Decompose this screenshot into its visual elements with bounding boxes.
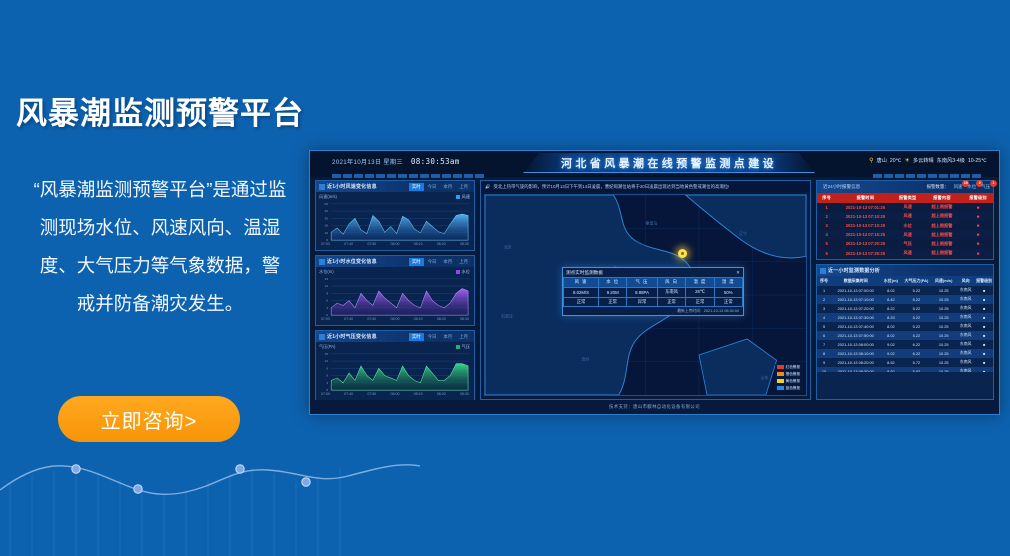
cell-level: ■ [963,249,993,258]
cell-index: 4 [817,313,831,322]
cell-wind-dir: 东南风 [956,331,975,340]
cell-wind-dir: 东南风 [956,340,975,349]
cell-wind-speed: 10.25 [931,331,956,340]
flag-icon [319,334,325,340]
table-row[interactable]: 8 2021-10-13 08:10:00 9.02 6.22 10.25 东南… [817,349,993,358]
background-wave-decoration [0,426,420,556]
svg-text:12: 12 [325,284,329,288]
cell-type: 风速 [894,230,920,239]
table-row[interactable]: 2 2021-10-13 07:10:00 8.42 5.22 10.25 东南… [817,295,993,304]
cell-water-level: 8.42 [880,295,901,304]
map-panel: 🔊 受北上热带气旋的影响，预计10月13日下午到14日凌晨，曹妃甸潮位站将于20… [480,180,811,400]
right-tables-column: 近24小时报警信息 报警数量： 风速 10 水位 2 气压 [816,180,994,400]
cell-level: ■ [975,331,993,340]
station-data-popup: 测点实时监测数据 ✕ 风 速 水 位 气 压 风 向 温 度 湿 度 [562,267,744,316]
cell-level: ■ [963,221,993,230]
map-legend: 红色警报 橙色警报 黄色警报 蓝色警报 [775,364,802,391]
weather-widget: ⚲ 唐山 20℃ ☀ 多云转晴 东南风3-4级 10-25℃ [869,157,987,164]
count-label: 风速 [954,184,963,189]
cell-level: ■ [963,203,993,212]
x-tick: 07:40 [344,242,353,246]
cell-water-level: 8.52 [880,358,901,367]
panel-title: 近1小时气压变化信息 [327,333,377,340]
cell-level: ■ [975,295,993,304]
svg-text:6: 6 [326,299,328,303]
cell-type: 风速 [894,203,920,212]
cell-index: 3 [817,304,831,313]
svg-text:沧州: 沧州 [581,355,589,361]
table-row[interactable]: 6 2021-10-13 07:25:25 风速 超上限报警 ■ [817,249,993,258]
cell-level: ■ [975,358,993,367]
cell-water-level: 8.23 [880,313,901,322]
cell-index: 7 [817,340,831,349]
cell-value: 8.88PA [627,287,657,297]
panel-tabs: 实时 今日 本月 上月 [409,333,471,341]
legend-label: 蓝色警报 [786,386,800,391]
legend-swatch-blue [777,386,784,390]
x-tick: 08:20 [437,242,446,246]
cell-wind-speed: 10.25 [931,349,956,358]
cell-wind-speed: 10.25 [931,367,956,372]
cell-content: 超上限报警 [921,239,963,248]
center-map-column: 🔊 受北上热带气旋的影响，预计10月13日下午到14日凌晨，曹妃甸潮位站将于20… [480,180,811,400]
monitor-station-beacon[interactable] [678,249,687,258]
panel-water-level: 近1小时水位变化信息 实时 今日 本月 上月 水位(m) 水位 [315,255,475,326]
svg-text:北京: 北京 [504,243,512,249]
column-header: 序号 [817,193,836,203]
chart-air-pressure: 气压(PA) 气压 1512 96 [316,342,474,400]
cell-pressure: 5.22 [901,331,931,340]
cell-level: ■ [963,230,993,239]
column-header: 气 压 [627,278,657,288]
svg-text:石家庄: 石家庄 [501,313,513,319]
status-cell: 正常 [657,297,686,307]
table-row[interactable]: 1 2021-10-13 07:01:25 风速 超上限报警 ■ [817,203,993,212]
cell-wind-dir: 东南风 [956,313,975,322]
bar-chart-icon [820,268,826,274]
x-tick: 08:10 [414,242,423,246]
cell-pressure: 5.92 [901,367,931,372]
cell-collect-time: 2021-10-13 07:00:00 [831,286,880,295]
panel-header: 近1小时气压变化信息 实时 今日 本月 上月 [316,331,474,342]
location-pin-icon: ⚲ [869,157,873,164]
panel-header: 近一小时监测数据分析 [817,265,993,276]
legend-label: 橙色警报 [786,372,800,377]
legend-item: 黄色警报 [775,378,802,384]
header-clock: 08:30:53am [411,157,460,166]
table-row[interactable]: 9 2021-10-13 08:20:00 8.52 5.72 10.25 东南… [817,358,993,367]
chart-legend: 水位 [456,269,470,275]
cell-wind-speed: 10.25 [931,286,956,295]
legend-label: 风速 [462,194,470,200]
column-header: 报警级别 [963,193,993,203]
cell-wind-speed: 10.25 [931,340,956,349]
dashboard-title: 河北省风暴潮在线预警监测点建设 [561,155,777,171]
cell-wind-speed: 10.25 [931,295,956,304]
count-label: 水位 [967,184,976,189]
svg-text:15: 15 [325,352,329,356]
tab-this-month[interactable]: 本月 [440,183,455,191]
column-header: 报警内容 [921,193,963,203]
cell-content: 超上限报警 [921,203,963,212]
page-title: 风暴潮监测预警平台 [0,88,320,133]
legend-color-swatch [456,195,460,199]
dashboard-preview: 2021年10月13日 星期三 08:30:53am 河北省风暴潮在线预警监测点… [309,150,1000,415]
table-row[interactable]: 1 2021-10-13 07:00:00 8.02 5.22 10.25 东南… [817,286,993,295]
popup-timestamp: 最新上传时间：2021-10-13 08:30:00 [563,307,743,315]
status-cell: 正常 [686,297,714,307]
svg-text:20: 20 [325,224,329,228]
cell-pressure: 5.72 [901,358,931,367]
weather-city: 唐山 [877,157,887,164]
status-cell-abnormal: 异常 [627,297,657,307]
cell-water-level: 8.02 [880,286,901,295]
legend-label: 水位 [462,269,470,275]
panel-monitor-data: 近一小时监测数据分析 序号 数据采集时间 水位(m) 大气压力(PA) 风速(m… [816,264,994,400]
cell-index: 10 [817,367,831,372]
cell-index: 1 [817,203,836,212]
monitor-data-table: 序号 数据采集时间 水位(m) 大气压力(PA) 风速(m/s) 风向 报警级别… [817,276,993,372]
tab-this-month[interactable]: 本月 [440,333,455,341]
cell-level: ■ [975,304,993,313]
announcement-text: 受北上热带气旋的影响，预计10月13日下午到14日凌晨，曹妃甸潮位站将于20日凌… [493,184,729,190]
table-header-row: 风 速 水 位 气 压 风 向 温 度 湿 度 [564,278,743,288]
column-header: 水 位 [599,278,627,288]
svg-text:10: 10 [325,231,329,235]
map-canvas[interactable]: 北京石家庄 秦皇岛唐山 沧州辽宁 山东 测点实时监测数据 ✕ [484,194,807,396]
cell-wind-speed: 10.25 [931,358,956,367]
cell-time: 2021-10-13 07:01:25 [836,203,894,212]
chart-plot-area: 1512 96 30 [319,350,471,392]
x-tick: 08:20 [437,392,446,396]
cell-wind-speed: 10.25 [931,313,956,322]
cell-type: 风速 [894,249,920,258]
cell-collect-time: 2021-10-13 08:10:00 [831,349,880,358]
hero-section: 风暴潮监测预警平台 “风暴潮监测预警平台”是通过监测现场水位、风速风向、温湿度、… [0,88,320,323]
cell-index: 3 [817,221,836,230]
x-tick: 08:00 [390,317,399,321]
cell-pressure: 6.22 [901,340,931,349]
hero-description: “风暴潮监测预警平台”是通过监测现场水位、风速风向、温湿度、大气压力等气象数据，… [0,171,320,323]
cell-value: 东南风 [657,287,686,297]
panel-header: 近1小时水位变化信息 实时 今日 本月 上月 [316,256,474,267]
chart-x-tick-labels: 07:00 07:40 07:50 08:00 08:10 08:20 08:3… [319,317,471,321]
cell-index: 9 [817,358,831,367]
cell-content: 超上限报警 [921,230,963,239]
alarm-count-pressure: 气压 1 [981,184,990,190]
chart-water-level: 水位(m) 水位 1512 96 [316,267,474,325]
alarm-counts-label: 报警数量： [927,184,949,190]
table-row[interactable]: 6 2021-10-13 07:50:00 8.02 5.22 10.25 东南… [817,331,993,340]
cell-water-level: 8.02 [880,331,901,340]
flag-icon [319,184,325,190]
tab-last-month[interactable]: 上月 [456,258,471,266]
cell-level: ■ [975,322,993,331]
tab-this-month[interactable]: 本月 [440,258,455,266]
alarm-table: 序号 报警时间 报警类型 报警内容 报警级别 1 2021-10-13 07:0… [817,193,993,258]
column-header: 水位(m) [880,276,901,286]
x-tick: 08:30 [460,242,469,246]
table-row[interactable]: 7 2021-10-13 08:00:00 9.02 6.22 10.25 东南… [817,340,993,349]
cell-level: ■ [963,239,993,248]
header-datetime: 2021年10月13日 星期三 08:30:53am [332,157,460,166]
cell-index: 8 [817,349,831,358]
x-tick: 07:50 [367,317,376,321]
flag-icon [319,259,325,265]
cell-time: 2021-10-13 07:25:25 [836,249,894,258]
table-row[interactable]: 4 2021-10-13 07:30:00 8.23 5.22 10.25 东南… [817,313,993,322]
chart-legend: 风速 [456,194,470,200]
cell-water-level: 8.92 [880,367,901,372]
column-header: 风向 [956,276,975,286]
cell-collect-time: 2021-10-13 07:30:00 [831,313,880,322]
count-badge: 1 [990,180,997,187]
cell-time: 2021-10-13 07:10:25 [836,212,894,221]
cell-wind-speed: 10.25 [931,304,956,313]
column-header: 风 向 [657,278,686,288]
cell-wind-speed: 10.25 [931,322,956,331]
cell-collect-time: 2021-10-13 07:10:00 [831,295,880,304]
table-row[interactable]: 3 2021-10-13 07:20:00 8.22 5.22 10.25 东南… [817,304,993,313]
table-row[interactable]: 3 2021-10-13 07:10:25 水位 超上限报警 ■ [817,221,993,230]
svg-text:秦皇岛: 秦皇岛 [646,219,658,225]
consult-now-button[interactable]: 立即咨询> [58,396,240,442]
cell-time: 2021-10-13 07:20:25 [836,239,894,248]
table-row: 8.02M/S 9.20M 8.88PA 东南风 25℃ 50% [564,287,743,297]
cell-wind-dir: 东南风 [956,295,975,304]
weather-condition: 多云转晴 [913,157,934,164]
count-label: 气压 [981,184,990,189]
legend-color-swatch [456,345,460,349]
cell-value: 9.20M [599,287,627,297]
alarm-count-wind: 风速 10 [954,184,963,190]
chart-plot-area: 5040 3020 100 [319,200,471,242]
cell-index: 6 [817,249,836,258]
cell-value: 8.02M/S [564,287,599,297]
column-header: 报警类型 [894,193,920,203]
x-tick: 08:10 [414,317,423,321]
cell-index: 1 [817,286,831,295]
cell-pressure: 5.22 [901,313,931,322]
panel-tabs: 实时 今日 本月 上月 [409,258,471,266]
alarm-count-water: 水位 2 [967,184,976,190]
popup-title: 测点实时监测数据 [566,270,603,276]
chart-legend: 气压 [456,344,470,350]
cell-pressure: 6.22 [901,349,931,358]
tab-today[interactable]: 今日 [425,333,440,341]
table-row[interactable]: 5 2021-10-13 07:20:25 气压 超上限报警 ■ [817,239,993,248]
svg-text:30: 30 [325,216,329,220]
x-tick: 08:20 [437,317,446,321]
cell-collect-time: 2021-10-13 08:30:00 [831,367,880,372]
legend-label: 气压 [462,344,470,350]
svg-text:山东: 山东 [761,374,769,380]
station-data-table: 风 速 水 位 气 压 风 向 温 度 湿 度 8.02M/S 9.20M 8.… [563,277,743,307]
cell-level: ■ [963,212,993,221]
cell-index: 5 [817,239,836,248]
cell-value: 50% [714,287,742,297]
legend-swatch-red [777,365,784,369]
svg-text:辽宁: 辽宁 [739,230,747,236]
svg-text:3: 3 [326,381,328,385]
panel-title: 近1小时水位变化信息 [327,258,377,265]
cell-wind-dir: 东南风 [956,322,975,331]
svg-text:9: 9 [326,366,328,370]
weather-range: 10-25℃ [968,158,987,164]
x-tick: 07:00 [321,317,330,321]
tab-today[interactable]: 今日 [425,183,440,191]
x-tick: 08:10 [414,392,423,396]
x-tick: 08:30 [460,392,469,396]
tab-today[interactable]: 今日 [425,258,440,266]
x-tick: 07:50 [367,242,376,246]
sun-cloud-icon: ☀ [905,157,910,164]
column-header: 报警时间 [836,193,894,203]
chart-x-tick-labels: 07:00 07:40 07:50 08:00 08:10 08:20 08:3… [319,392,471,396]
column-header: 风速(m/s) [931,276,956,286]
legend-label: 黄色警报 [786,379,800,384]
alarm-counts: 报警数量： 风速 10 水位 2 气压 1 [927,184,990,190]
panel-title: 近1小时风速变化信息 [327,183,377,190]
legend-swatch-yellow [777,379,784,383]
cell-index: 6 [817,331,831,340]
column-header: 序号 [817,276,831,286]
legend-item: 蓝色警报 [775,385,802,391]
cell-pressure: 5.22 [901,286,931,295]
cell-index: 2 [817,212,836,221]
tab-realtime[interactable]: 实时 [409,183,424,191]
status-cell: 正常 [714,297,742,307]
column-header: 风 速 [564,278,599,288]
panel-air-pressure: 近1小时气压变化信息 实时 今日 本月 上月 气压(PA) 气压 [315,330,475,401]
table-row: 正常 正常 异常 正常 正常 正常 [564,297,743,307]
svg-text:15: 15 [325,277,329,281]
popup-header: 测点实时监测数据 ✕ [563,268,743,277]
x-tick: 07:40 [344,317,353,321]
speaker-icon: 🔊 [485,184,490,190]
panel-header: 近1小时风速变化信息 实时 今日 本月 上月 [316,181,474,192]
panel-alarm-info: 近24小时报警信息 报警数量： 风速 10 水位 2 气压 [816,180,994,260]
svg-text:3: 3 [326,306,328,310]
cell-level: ■ [975,349,993,358]
monitor-data-scroll[interactable]: 序号 数据采集时间 水位(m) 大气压力(PA) 风速(m/s) 风向 报警级别… [817,276,993,372]
table-header-row: 序号 报警时间 报警类型 报警内容 报警级别 [817,193,993,203]
cell-water-level: 8.22 [880,304,901,313]
cell-collect-time: 2021-10-13 08:00:00 [831,340,880,349]
cell-index: 5 [817,322,831,331]
x-tick: 07:00 [321,242,330,246]
svg-text:9: 9 [326,291,328,295]
x-tick: 07:50 [367,392,376,396]
cell-collect-time: 2021-10-13 07:50:00 [831,331,880,340]
cell-type: 风速 [894,212,920,221]
panel-title: 近24小时报警信息 [823,184,860,190]
cell-wind-dir: 东南风 [956,349,975,358]
column-header: 大气压力(PA) [901,276,931,286]
tab-last-month[interactable]: 上月 [456,333,471,341]
table-row[interactable]: 4 2021-10-13 07:15:25 风速 超上限报警 ■ [817,230,993,239]
legend-item: 橙色警报 [775,371,802,377]
legend-swatch-orange [777,372,784,376]
table-row[interactable]: 10 2021-10-13 08:30:00 8.92 5.92 10.25 东… [817,367,993,372]
legend-color-swatch [456,270,460,274]
column-header: 报警级别 [975,276,993,286]
tab-last-month[interactable]: 上月 [456,183,471,191]
svg-text:12: 12 [325,359,329,363]
cell-index: 4 [817,230,836,239]
x-tick: 07:00 [321,392,330,396]
cell-collect-time: 2021-10-13 08:20:00 [831,358,880,367]
cell-pressure: 5.22 [901,295,931,304]
cell-water-level: 8.02 [880,322,901,331]
cell-level: ■ [975,340,993,349]
cell-content: 超上限报警 [921,221,963,230]
x-tick: 08:00 [390,242,399,246]
column-header: 湿 度 [714,278,742,288]
cell-wind-dir: 东南风 [956,304,975,313]
table-row[interactable]: 2 2021-10-13 07:10:25 风速 超上限报警 ■ [817,212,993,221]
cell-level: ■ [975,286,993,295]
svg-text:6: 6 [326,374,328,378]
cell-wind-dir: 东南风 [956,358,975,367]
weather-temp: 20℃ [890,158,902,164]
tab-realtime[interactable]: 实时 [409,258,424,266]
legend-label: 红色警报 [786,365,800,370]
cell-collect-time: 2021-10-13 07:20:00 [831,304,880,313]
x-tick: 08:30 [460,317,469,321]
cell-level: ■ [975,367,993,372]
cell-content: 超上限报警 [921,249,963,258]
x-tick: 07:40 [344,392,353,396]
announcement-marquee: 🔊 受北上热带气旋的影响，预计10月13日下午到14日凌晨，曹妃甸潮位站将于20… [481,181,810,192]
x-tick: 08:00 [390,392,399,396]
cell-type: 气压 [894,239,920,248]
cell-index: 2 [817,295,831,304]
cell-water-level: 9.02 [880,340,901,349]
dashboard-title-frame: 河北省风暴潮在线预警监测点建设 [523,153,815,173]
chart-plot-area: 1512 96 30 [319,275,471,317]
panel-title: 近一小时监测数据分析 [828,267,880,274]
cell-time: 2021-10-13 07:15:25 [836,230,894,239]
cell-pressure: 5.22 [901,304,931,313]
weather-wind: 东南风3-4级 [937,157,965,164]
cell-content: 超上限报警 [921,212,963,221]
cell-time: 2021-10-13 07:10:25 [836,221,894,230]
status-cell: 正常 [564,297,599,307]
status-cell: 正常 [599,297,627,307]
chart-wind-speed: 风速(m/s) 风速 5040 3020 [316,192,474,250]
dashboard-header: 2021年10月13日 星期三 08:30:53am 河北省风暴潮在线预警监测点… [310,151,999,177]
cell-collect-time: 2021-10-13 07:40:00 [831,322,880,331]
left-charts-column: 近1小时风速变化信息 实时 今日 本月 上月 风速(m/s) 风速 [315,180,475,400]
panel-tabs: 实时 今日 本月 上月 [409,183,471,191]
cell-type: 水位 [894,221,920,230]
header-date: 2021年10月13日 星期三 [332,159,403,166]
close-icon[interactable]: ✕ [736,270,740,276]
cell-wind-dir: 东南风 [956,286,975,295]
svg-text:40: 40 [325,209,329,213]
panel-wind-speed: 近1小时风速变化信息 实时 今日 本月 上月 风速(m/s) 风速 [315,180,475,251]
cell-level: ■ [975,313,993,322]
alarm-table-scroll[interactable]: 序号 报警时间 报警类型 报警内容 报警级别 1 2021-10-13 07:0… [817,193,993,259]
cell-pressure: 5.22 [901,322,931,331]
svg-text:50: 50 [325,202,329,206]
cell-wind-dir: 东南风 [956,367,975,372]
column-header: 温 度 [686,278,714,288]
dashboard-footer: 技术支持：唐山市麒林自动化设备有限公司 [310,400,999,414]
table-row[interactable]: 5 2021-10-13 07:40:00 8.02 5.22 10.25 东南… [817,322,993,331]
tab-realtime[interactable]: 实时 [409,333,424,341]
